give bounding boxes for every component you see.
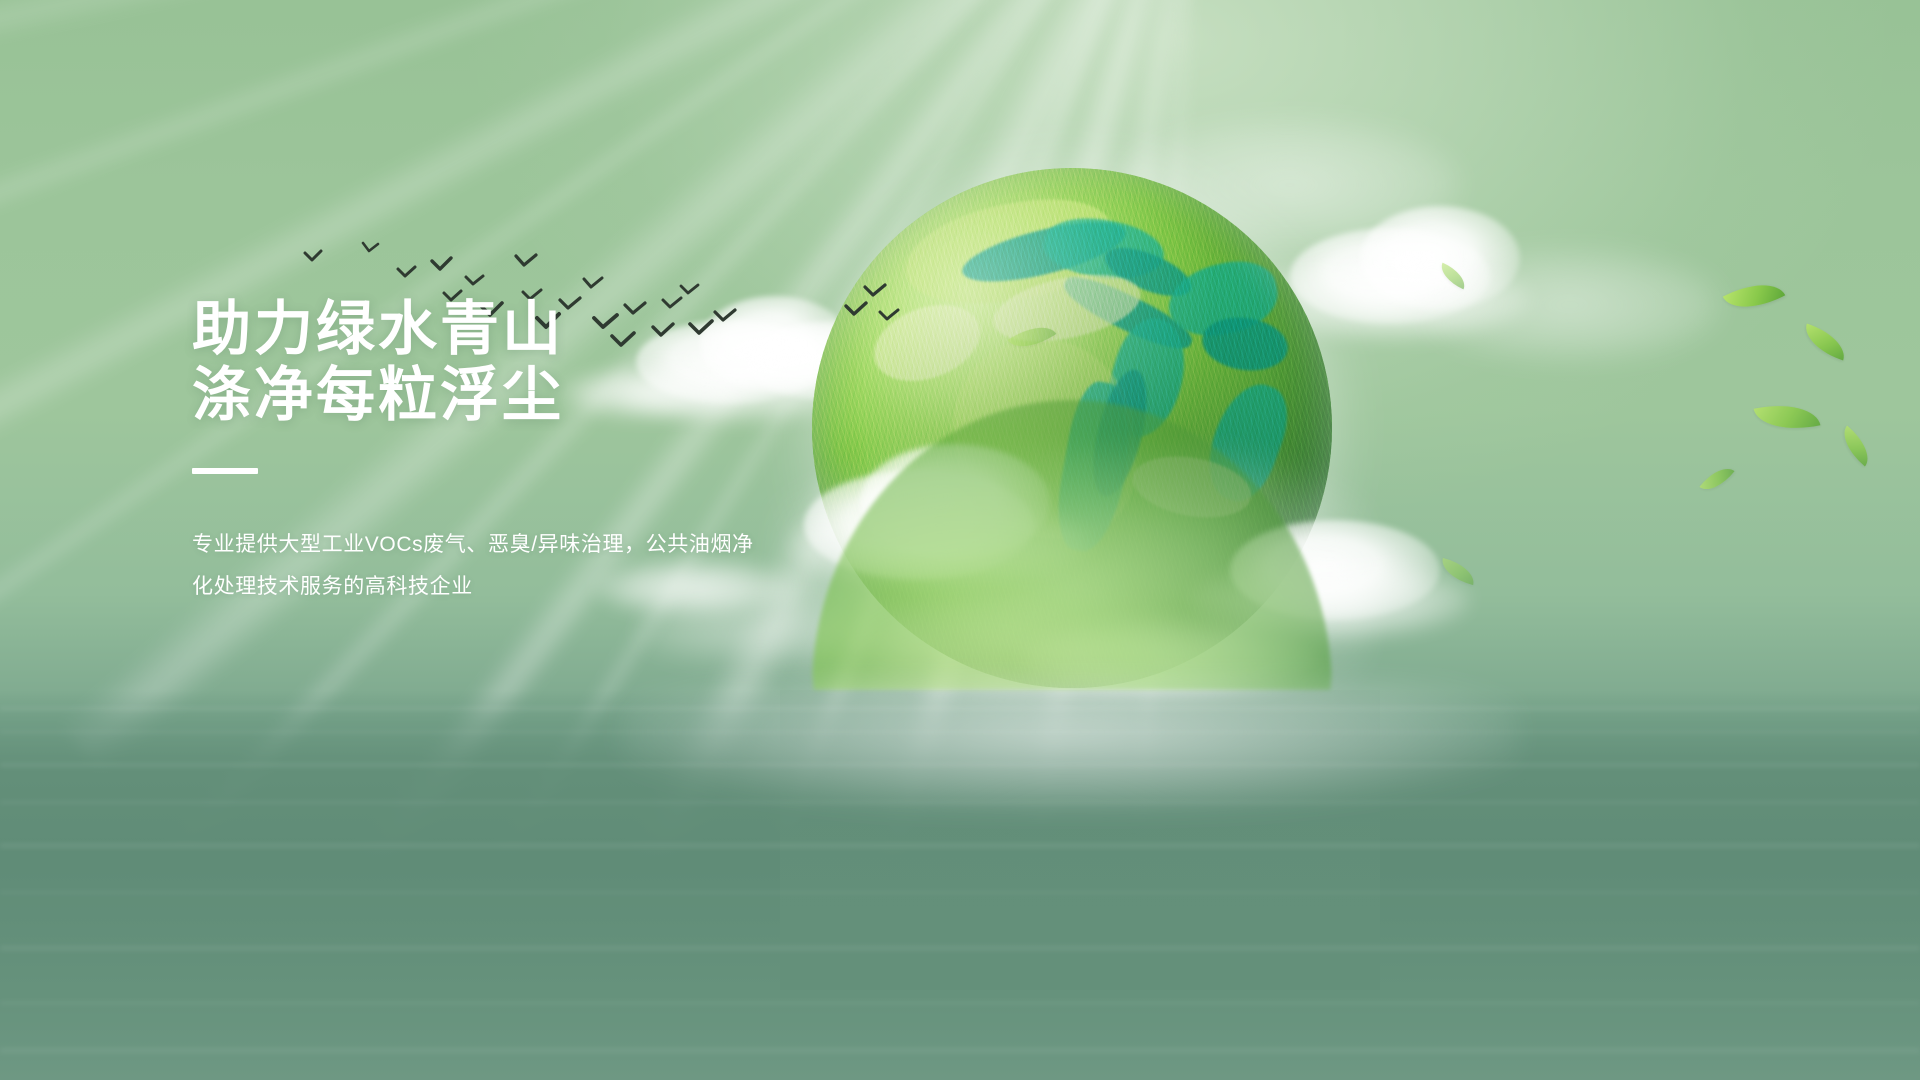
hero-banner: 助力绿水青山 涤净每粒浮尘 专业提供大型工业VOCs废气、恶臭/异味治理，公共油… [0,0,1920,1080]
headline-line-2: 涤净每粒浮尘 [192,362,952,428]
banner-copy: 助力绿水青山 涤净每粒浮尘 专业提供大型工业VOCs废气、恶臭/异味治理，公共油… [192,296,952,608]
subtitle-line-2: 化处理技术服务的高科技企业 [192,566,952,608]
banner-subtitle: 专业提供大型工业VOCs废气、恶臭/异味治理，公共油烟净 化处理技术服务的高科技… [192,524,952,608]
headline-line-1: 助力绿水青山 [192,296,952,362]
title-divider [192,468,258,474]
subtitle-line-1: 专业提供大型工业VOCs废气、恶臭/异味治理，公共油烟净 [192,524,952,566]
